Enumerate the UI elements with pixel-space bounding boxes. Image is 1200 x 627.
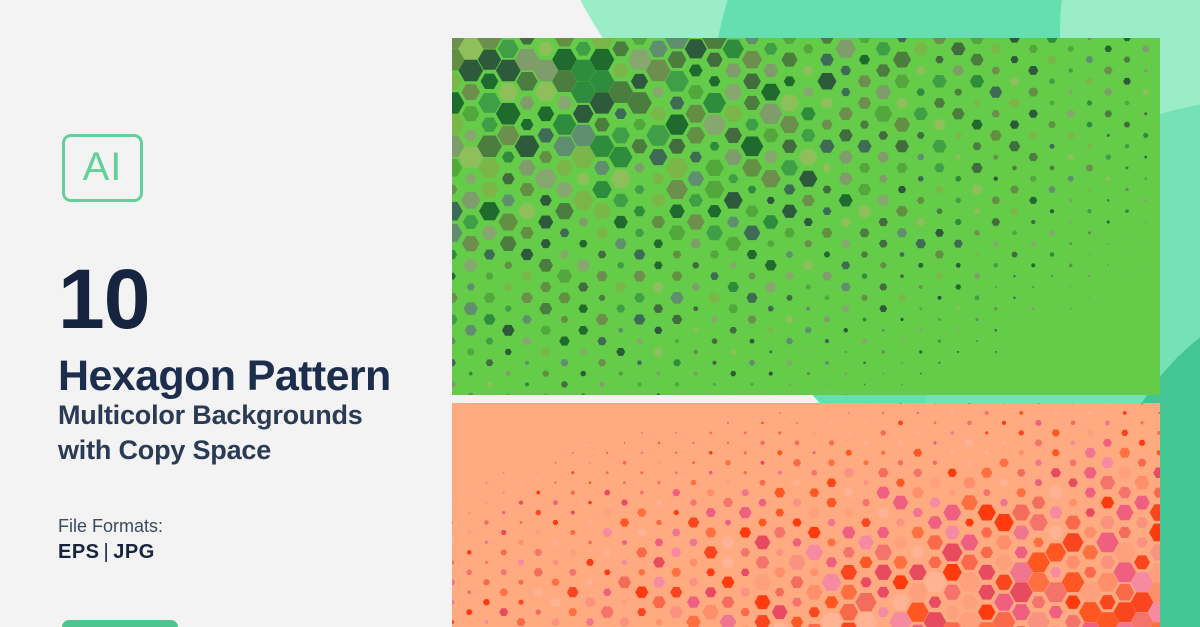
page-subtitle: Multicolor Backgrounds with Copy Space [58, 398, 363, 468]
info-column: AI 10 Hexagon Pattern Multicolor Backgro… [0, 0, 452, 627]
preview-canvas: AI 10 Hexagon Pattern Multicolor Backgro… [0, 0, 1200, 627]
format-separator: | [100, 541, 114, 563]
cta-button[interactable] [62, 620, 178, 627]
ai-format-badge: AI [62, 134, 143, 202]
green-hexagon-pattern [452, 38, 1160, 395]
page-subtitle-line-1: Multicolor Backgrounds [58, 398, 363, 433]
format-jpg: JPG [113, 541, 155, 563]
ai-badge-label: AI [83, 147, 123, 187]
page-title: Hexagon Pattern [58, 355, 391, 398]
file-formats-label: File Formats: [58, 517, 163, 535]
green-hexagon-preview[interactable] [452, 38, 1160, 395]
coral-hexagon-pattern [452, 403, 1160, 627]
file-formats-value: EPS|JPG [58, 542, 155, 562]
asset-count: 10 [58, 258, 149, 340]
format-eps: EPS [58, 541, 100, 563]
coral-hexagon-preview[interactable] [452, 403, 1160, 627]
page-subtitle-line-2: with Copy Space [58, 433, 363, 468]
